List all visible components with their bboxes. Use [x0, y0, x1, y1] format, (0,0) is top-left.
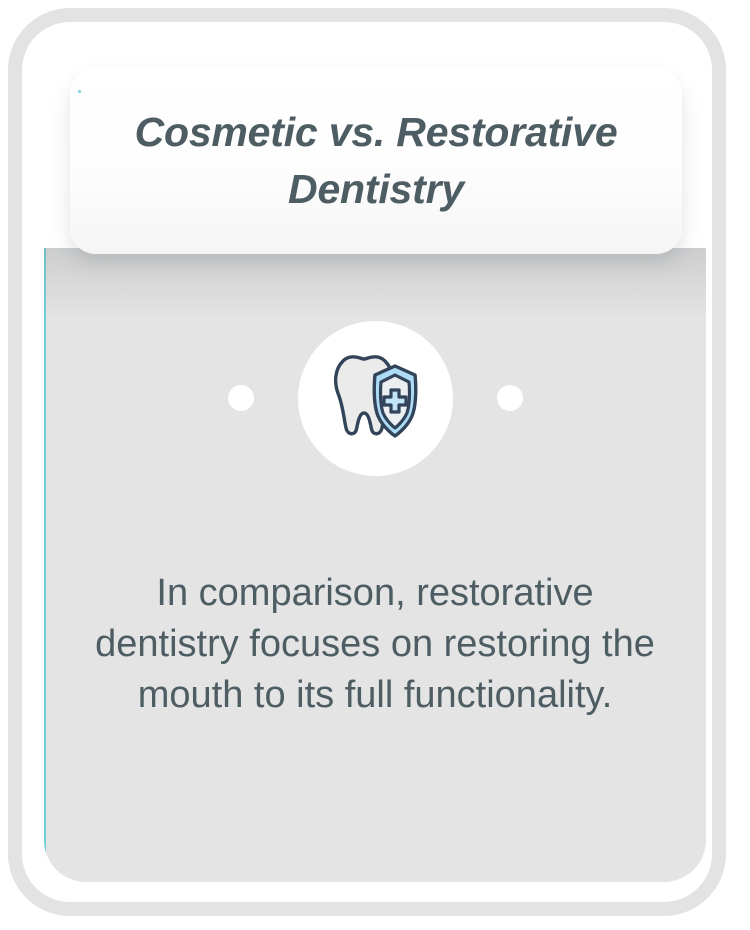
panel-accent-dot [78, 90, 81, 93]
left-dot-decoration [228, 385, 254, 411]
content-card: In comparison, restorative dentistry foc… [44, 248, 706, 882]
page-title: Cosmetic vs. Restorative Dentistry [100, 104, 652, 217]
title-panel: Cosmetic vs. Restorative Dentistry [70, 68, 682, 254]
card-body-text: In comparison, restorative dentistry foc… [84, 568, 666, 721]
right-dot-decoration [497, 385, 523, 411]
icon-row [44, 308, 706, 488]
tooth-shield-icon [298, 321, 453, 476]
